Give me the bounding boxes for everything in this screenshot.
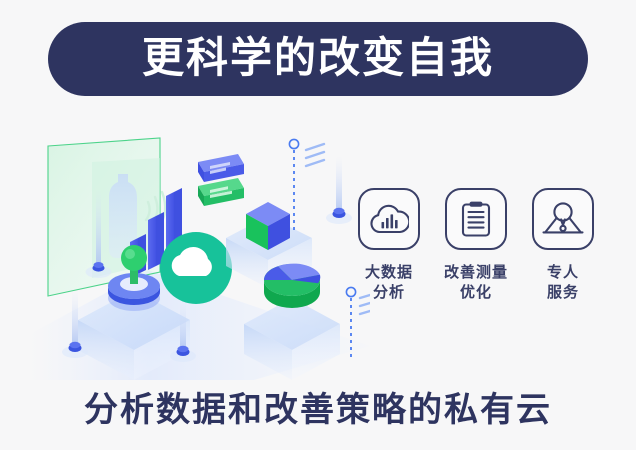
isometric-scene-svg [30, 120, 370, 380]
feature-label-line1: 大数据 [365, 264, 413, 281]
cloud-badge [160, 232, 232, 304]
illustration [30, 120, 370, 380]
feature-item-measurement: 改善测量 优化 [439, 188, 513, 303]
clipboard-badge [445, 188, 507, 250]
page-title: 更科学的改变自我 [142, 37, 494, 79]
feature-label-line2: 分析 [365, 283, 413, 303]
support-agent-badge [532, 188, 594, 250]
tagline: 分析数据和改善策略的私有云 [0, 382, 636, 431]
feature-item-support: 专人 服务 [526, 188, 600, 303]
pie-chart-3d [264, 264, 320, 308]
feature-label-line2: 服务 [547, 283, 579, 303]
infographic-canvas: 更科学的改变自我 [0, 0, 636, 450]
support-agent-icon [542, 201, 584, 237]
feature-list: 大数据 分析 改善测量 优化 [352, 188, 600, 338]
green-glass-panel [48, 138, 165, 296]
cloud-bar-chart-badge [358, 188, 420, 250]
feature-label-line2: 优化 [444, 283, 508, 303]
feature-item-big-data: 大数据 分析 [352, 188, 426, 303]
feature-label-big-data: 大数据 分析 [365, 263, 413, 303]
ui-card-green [198, 178, 244, 206]
feature-label-line1: 专人 [547, 264, 579, 281]
feature-label-measurement: 改善测量 优化 [444, 263, 508, 303]
feature-label-support: 专人 服务 [547, 263, 579, 303]
clipboard-icon [460, 200, 492, 238]
dotted-connector-pin [289, 139, 352, 232]
cloud-bar-chart-icon [369, 202, 409, 236]
feature-label-line1: 改善测量 [444, 264, 508, 281]
header-banner: 更科学的改变自我 [48, 22, 588, 96]
ui-card-blue [198, 154, 244, 182]
